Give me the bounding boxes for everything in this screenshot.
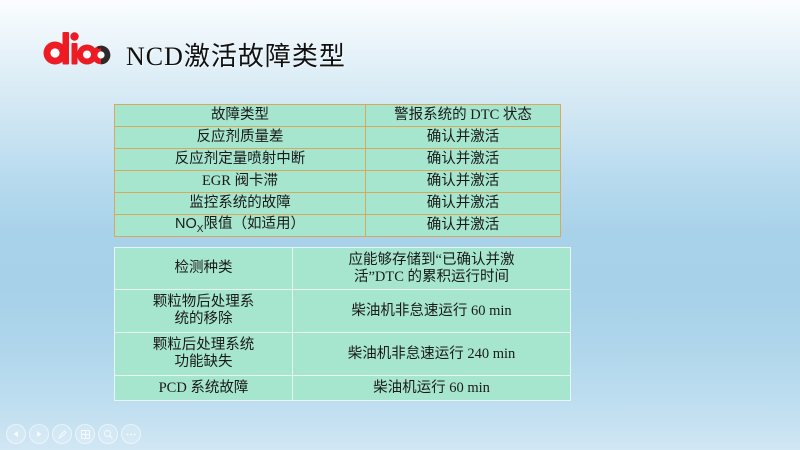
header-line-2: 活”DTC 的累积运行时间: [296, 269, 567, 286]
slide-header: NCD激活故障类型: [0, 0, 800, 92]
cell-accumulated-runtime: 柴油机非怠速运行 60 min: [293, 290, 571, 333]
column-header-fault-type: 故障类型: [115, 105, 366, 127]
more-options-button[interactable]: [121, 424, 141, 444]
cell-fault-type: 反应剂质量差: [115, 127, 366, 149]
cell-dtc-status: 确认并激活: [366, 171, 561, 193]
table-row: EGR 阀卡滞 确认并激活: [115, 171, 561, 193]
column-header-accumulated-runtime: 应能够存储到“已确认并激 活”DTC 的累积运行时间: [293, 248, 571, 290]
cell-accumulated-runtime: 柴油机非怠速运行 240 min: [293, 333, 571, 376]
cell-fault-type-nox: NOX限值（如适用）: [115, 215, 366, 237]
previous-slide-button[interactable]: [6, 424, 26, 444]
presentation-slide: NCD激活故障类型 故障类型 警报系统的 DTC 状态 反应剂质量差 确认并激活…: [0, 0, 800, 450]
pen-tool-button[interactable]: [52, 424, 72, 444]
column-header-dtc-status: 警报系统的 DTC 状态: [366, 105, 561, 127]
table-row: 监控系统的故障 确认并激活: [115, 193, 561, 215]
cell-fault-type: 监控系统的故障: [115, 193, 366, 215]
cell-dtc-status: 确认并激活: [366, 149, 561, 171]
cell-line-1: 颗粒物后处理系: [118, 294, 289, 311]
cell-fault-type: 反应剂定量喷射中断: [115, 149, 366, 171]
table-row: NOX限值（如适用） 确认并激活: [115, 215, 561, 237]
cell-detection-type: 颗粒后处理系统 功能缺失: [115, 333, 293, 376]
dioo-logo: [42, 30, 112, 66]
cell-dtc-status: 确认并激活: [366, 127, 561, 149]
table-header-row: 检测种类 应能够存储到“已确认并激 活”DTC 的累积运行时间: [115, 248, 571, 290]
table-row: 颗粒后处理系统 功能缺失 柴油机非怠速运行 240 min: [115, 333, 571, 376]
cell-fault-type: EGR 阀卡滞: [115, 171, 366, 193]
cell-accumulated-runtime: 柴油机运行 60 min: [293, 376, 571, 401]
cell-dtc-status: 确认并激活: [366, 215, 561, 237]
page-title: NCD激活故障类型: [126, 36, 346, 73]
fault-type-table: 故障类型 警报系统的 DTC 状态 反应剂质量差 确认并激活 反应剂定量喷射中断…: [114, 104, 561, 237]
presentation-controls: [6, 424, 141, 444]
table-row: PCD 系统故障 柴油机运行 60 min: [115, 376, 571, 401]
table-header-row: 故障类型 警报系统的 DTC 状态: [115, 105, 561, 127]
next-slide-button[interactable]: [29, 424, 49, 444]
cell-line-2: 功能缺失: [118, 354, 289, 371]
zoom-button[interactable]: [98, 424, 118, 444]
cell-line-2: 统的移除: [118, 311, 289, 328]
table-row: 反应剂定量喷射中断 确认并激活: [115, 149, 561, 171]
cell-detection-type: PCD 系统故障: [115, 376, 293, 401]
detection-category-table: 检测种类 应能够存储到“已确认并激 活”DTC 的累积运行时间 颗粒物后处理系 …: [114, 247, 571, 401]
slide-grid-button[interactable]: [75, 424, 95, 444]
header-line-1: 应能够存储到“已确认并激: [296, 252, 567, 269]
nox-suffix: 限值（如适用）: [203, 216, 305, 232]
cell-detection-type: 颗粒物后处理系 统的移除: [115, 290, 293, 333]
cell-dtc-status: 确认并激活: [366, 193, 561, 215]
table-row: 颗粒物后处理系 统的移除 柴油机非怠速运行 60 min: [115, 290, 571, 333]
table-row: 反应剂质量差 确认并激活: [115, 127, 561, 149]
cell-line-1: 颗粒后处理系统: [118, 337, 289, 354]
nox-prefix: NO: [175, 216, 197, 232]
column-header-detection-type: 检测种类: [115, 248, 293, 290]
